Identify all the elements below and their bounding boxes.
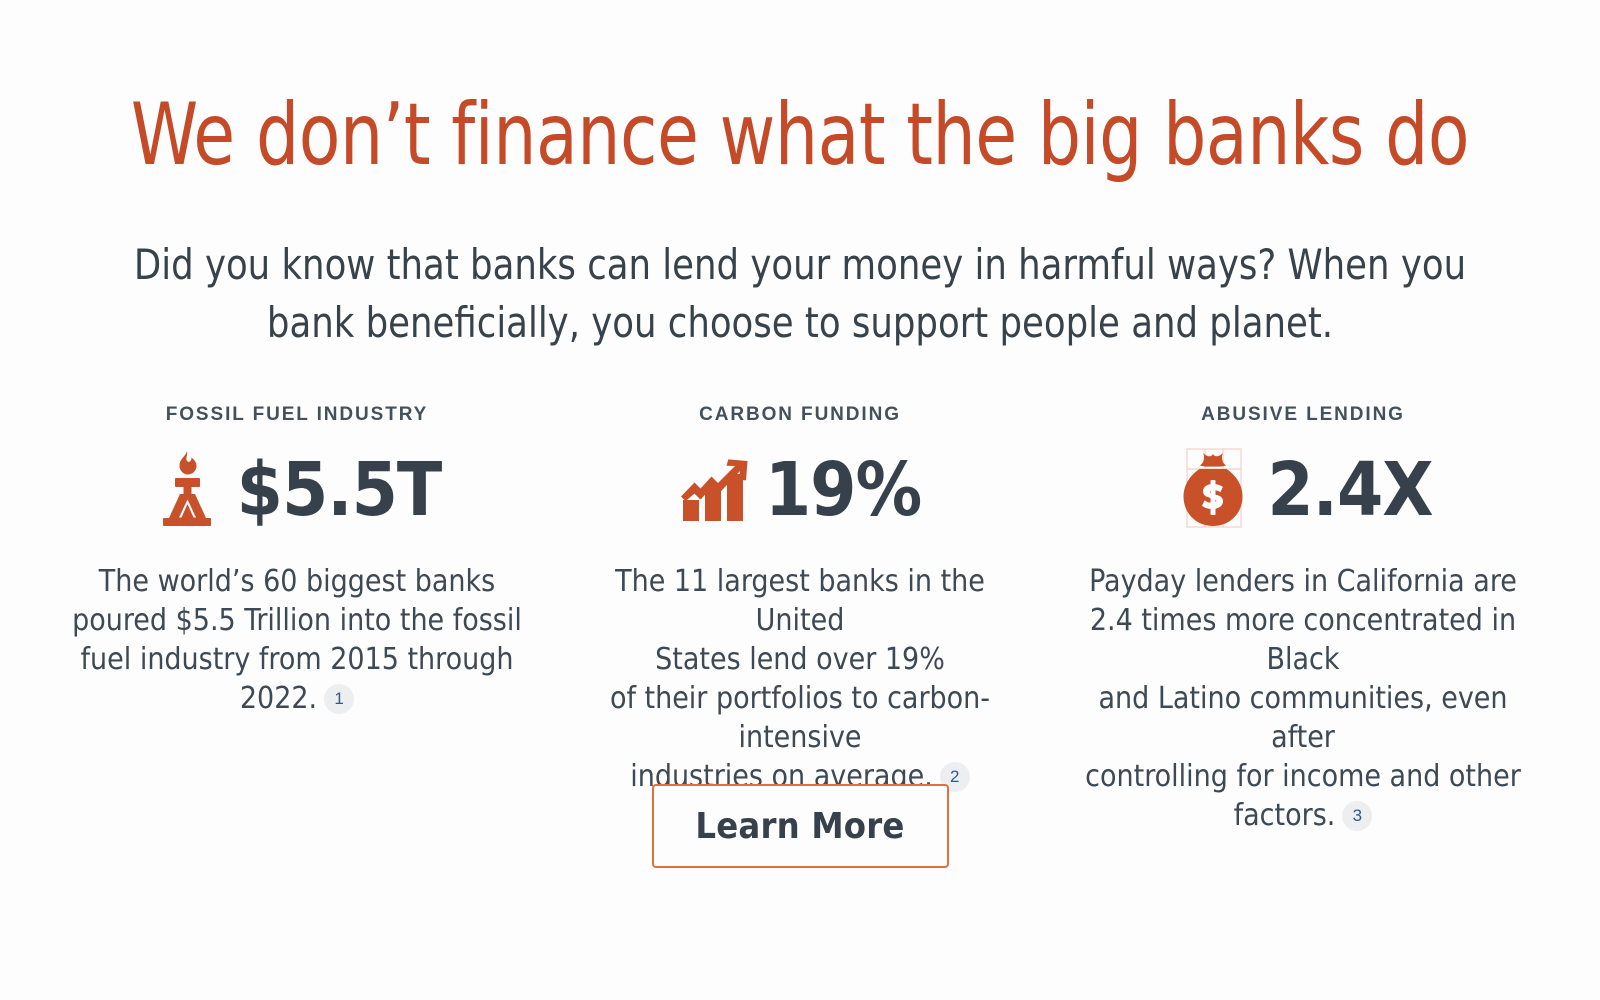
stat-kicker: CARBON FUNDING <box>572 405 1028 424</box>
stats-row: FOSSIL FUEL INDUSTRY <box>0 405 1600 835</box>
stat-card-fossil-fuel-industry: FOSSIL FUEL INDUSTRY <box>47 405 547 718</box>
cta-container: Learn More <box>0 784 1600 868</box>
stat-card-carbon-funding: CARBON FUNDING 19% The 11 largest banks … <box>550 405 1050 796</box>
stat-description: The 11 largest banks in the United State… <box>572 562 1028 796</box>
subheading: Did you know that banks can lend your mo… <box>95 236 1505 352</box>
bar-chart-growth-icon <box>679 452 749 529</box>
page-title: We don’t finance what the big banks do <box>96 92 1504 178</box>
stat-kicker: ABUSIVE LENDING <box>1075 405 1531 424</box>
footnote-ref[interactable]: 1 <box>324 684 354 714</box>
stat-figure-row: 19% <box>572 442 1028 538</box>
stat-card-abusive-lending: ABUSIVE LENDING <box>1053 405 1553 835</box>
oil-derrick-flame-icon <box>153 449 221 532</box>
money-bag-icon <box>1173 447 1251 534</box>
stat-figure: 2.4X <box>1267 453 1432 527</box>
marketing-section: We don’t finance what the big banks do D… <box>0 0 1600 1000</box>
stat-figure: 19% <box>765 453 921 527</box>
stat-figure-row: $5.5T <box>69 442 525 538</box>
stat-kicker: FOSSIL FUEL INDUSTRY <box>69 405 525 424</box>
stat-figure-row: 2.4X <box>1075 442 1531 538</box>
stat-description: The world’s 60 biggest banks poured $5.5… <box>69 562 525 718</box>
learn-more-button[interactable]: Learn More <box>652 784 949 868</box>
stat-figure: $5.5T <box>237 453 442 527</box>
